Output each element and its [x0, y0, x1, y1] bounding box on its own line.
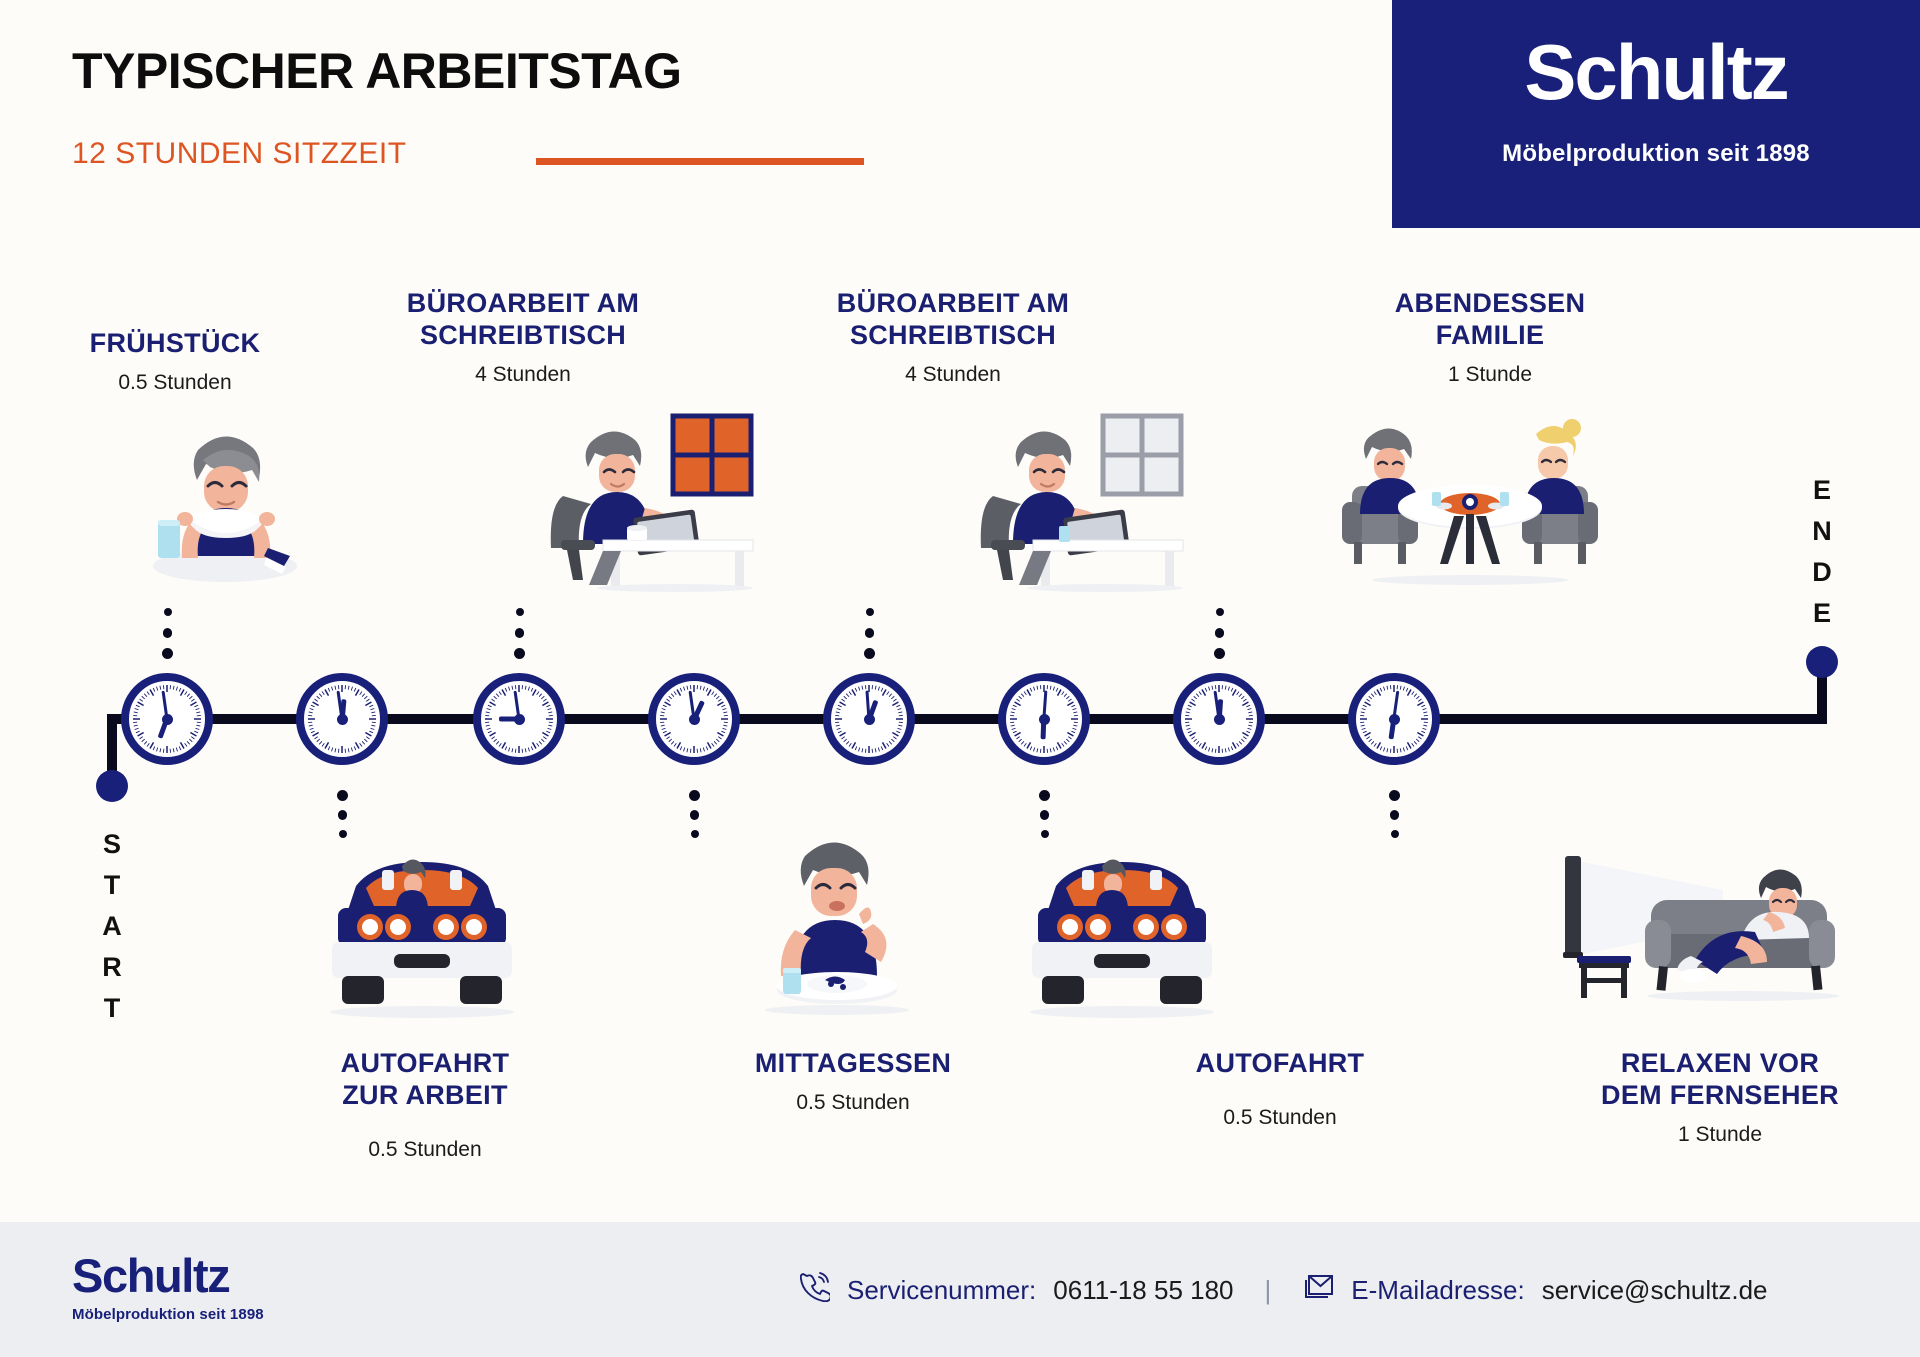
connector-dot [689, 790, 700, 801]
activity-label-autofahrt: AUTOFAHRT 0.5 Stunden [1145, 1048, 1415, 1130]
title-line: DEM FERNSEHER [1575, 1080, 1865, 1112]
connector-dot [1214, 648, 1225, 659]
activity-duration: 4 Stunden [818, 363, 1088, 387]
connector-dot [690, 810, 700, 820]
brand-logo-tagline: Möbelproduktion seit 1898 [1392, 140, 1920, 168]
page-subtitle: 12 STUNDEN SITZZEIT [72, 137, 407, 171]
clock-icon [121, 673, 213, 765]
title-line: AUTOFAHRT [290, 1048, 560, 1080]
tv-relax-illustration [1555, 838, 1845, 1023]
connector-dot [338, 810, 348, 820]
start-label: S T A R T [92, 824, 132, 1029]
title-line: AUTOFAHRT [1145, 1048, 1415, 1080]
footer-logo: Schultz Möbelproduktion seit 1898 [72, 1252, 264, 1323]
start-letter: T [92, 865, 132, 906]
footer-contact: Servicenummer: 0611-18 55 180 | E-Mailad… [800, 1272, 1768, 1309]
activity-label-autofahrt-zur-arbeit: AUTOFAHRT ZUR ARBEIT 0.5 Stunden [290, 1048, 560, 1162]
connector-dot [1389, 790, 1400, 801]
activity-title: AUTOFAHRT [1145, 1048, 1415, 1080]
clock-icon [648, 673, 740, 765]
connector-dot [866, 608, 874, 616]
activity-title: BÜROARBEIT AM SCHREIBTISCH [388, 288, 658, 352]
timeline-start-stub [107, 714, 117, 778]
title-line: FRÜHSTÜCK [40, 328, 310, 360]
activity-duration: 1 Stunde [1575, 1123, 1865, 1147]
title-line: BÜROARBEIT AM [818, 288, 1088, 320]
connector-dot [514, 648, 525, 659]
connector-dot [865, 628, 875, 638]
title-line: RELAXEN VOR [1575, 1048, 1865, 1080]
start-letter: A [92, 906, 132, 947]
activity-duration: 4 Stunden [388, 363, 658, 387]
clock-hub [1039, 714, 1050, 725]
connector-dot [691, 830, 699, 838]
clock-hub [162, 714, 173, 725]
activity-title: FRÜHSTÜCK [40, 328, 310, 360]
connector-dot [164, 608, 172, 616]
clock-hub [864, 714, 875, 725]
activity-label-mittagessen: MITTAGESSEN 0.5 Stunden [718, 1048, 988, 1115]
connector-dot [1039, 790, 1050, 801]
brand-logo-box: Schultz Möbelproduktion seit 1898 [1392, 0, 1920, 228]
start-letter: T [92, 988, 132, 1029]
infographic-canvas: TYPISCHER ARBEITSTAG 12 STUNDEN SITZZEIT… [0, 0, 1920, 1357]
connector-dot [337, 790, 348, 801]
start-letter: S [92, 824, 132, 865]
activity-title: MITTAGESSEN [718, 1048, 988, 1080]
title-line: SCHREIBTISCH [388, 320, 658, 352]
phone-label: Servicenummer: [847, 1275, 1036, 1306]
email-label: E-Mailadresse: [1351, 1275, 1524, 1306]
title-line: MITTAGESSEN [718, 1048, 988, 1080]
end-letter: N [1802, 511, 1842, 552]
connector-dot [864, 648, 875, 659]
email-value: service@schultz.de [1542, 1275, 1768, 1306]
subtitle-rule [536, 158, 864, 165]
start-letter: R [92, 947, 132, 988]
desk-work-illustration [975, 412, 1190, 597]
activity-title: BÜROARBEIT AM SCHREIBTISCH [818, 288, 1088, 352]
activity-label-relaxen: RELAXEN VOR DEM FERNSEHER 1 Stunde [1575, 1048, 1865, 1147]
footer-logo-tagline: Möbelproduktion seit 1898 [72, 1306, 264, 1323]
clock-hub [337, 714, 348, 725]
connector-dot [516, 608, 524, 616]
clock-icon [1348, 673, 1440, 765]
activity-title: AUTOFAHRT ZUR ARBEIT [290, 1048, 560, 1112]
family-dinner-illustration [1340, 408, 1600, 593]
activity-label-fruehstueck: FRÜHSTÜCK 0.5 Stunden [40, 328, 310, 395]
clock-hub [514, 714, 525, 725]
clock-hub [1389, 714, 1400, 725]
activity-duration: 0.5 Stunden [718, 1091, 988, 1115]
activity-duration: 0.5 Stunden [40, 371, 310, 395]
clock-icon [1173, 673, 1265, 765]
clock-hub [1214, 714, 1225, 725]
title-line: ZUR ARBEIT [290, 1080, 560, 1112]
activity-duration: 0.5 Stunden [1145, 1106, 1415, 1130]
activity-label-bueroarbeit-1: BÜROARBEIT AM SCHREIBTISCH 4 Stunden [388, 288, 658, 387]
timeline-end-dot [1806, 646, 1838, 678]
activity-label-abendessen: ABENDESSEN FAMILIE 1 Stunde [1355, 288, 1625, 387]
activity-duration: 0.5 Stunden [290, 1138, 560, 1162]
activity-duration: 1 Stunde [1355, 363, 1625, 387]
clock-hub [689, 714, 700, 725]
connector-dot [1390, 810, 1400, 820]
activity-label-bueroarbeit-2: BÜROARBEIT AM SCHREIBTISCH 4 Stunden [818, 288, 1088, 387]
title-line: SCHREIBTISCH [818, 320, 1088, 352]
timeline-start-dot [96, 770, 128, 802]
end-label: E N D E [1802, 470, 1842, 634]
title-line: ABENDESSEN [1355, 288, 1625, 320]
brand-logo-wordmark: Schultz [1392, 27, 1920, 118]
connector-dot [163, 628, 173, 638]
connector-dot [1216, 608, 1224, 616]
connector-dot [1040, 810, 1050, 820]
car-illustration [320, 832, 525, 1027]
clock-icon [823, 673, 915, 765]
connector-dot [162, 648, 173, 659]
footer-logo-wordmark: Schultz [72, 1252, 264, 1299]
phone-value: 0611-18 55 180 [1053, 1275, 1233, 1306]
clock-icon [296, 673, 388, 765]
car-illustration [1020, 832, 1225, 1027]
end-letter: E [1802, 470, 1842, 511]
clock-icon [473, 673, 565, 765]
connector-dot [1215, 628, 1225, 638]
envelope-icon [1302, 1273, 1334, 1308]
end-letter: D [1802, 552, 1842, 593]
desk-work-illustration [545, 412, 760, 597]
breakfast-illustration [130, 408, 320, 593]
title-line: BÜROARBEIT AM [388, 288, 658, 320]
connector-dot [515, 628, 525, 638]
connector-dot [1391, 830, 1399, 838]
title-line: FAMILIE [1355, 320, 1625, 352]
page-title: TYPISCHER ARBEITSTAG [72, 42, 681, 100]
activity-title: ABENDESSEN FAMILIE [1355, 288, 1625, 352]
end-letter: E [1802, 593, 1842, 634]
phone-icon [800, 1272, 830, 1309]
lunch-illustration [745, 818, 935, 1023]
contact-separator: | [1265, 1275, 1272, 1306]
activity-title: RELAXEN VOR DEM FERNSEHER [1575, 1048, 1865, 1112]
clock-icon [998, 673, 1090, 765]
